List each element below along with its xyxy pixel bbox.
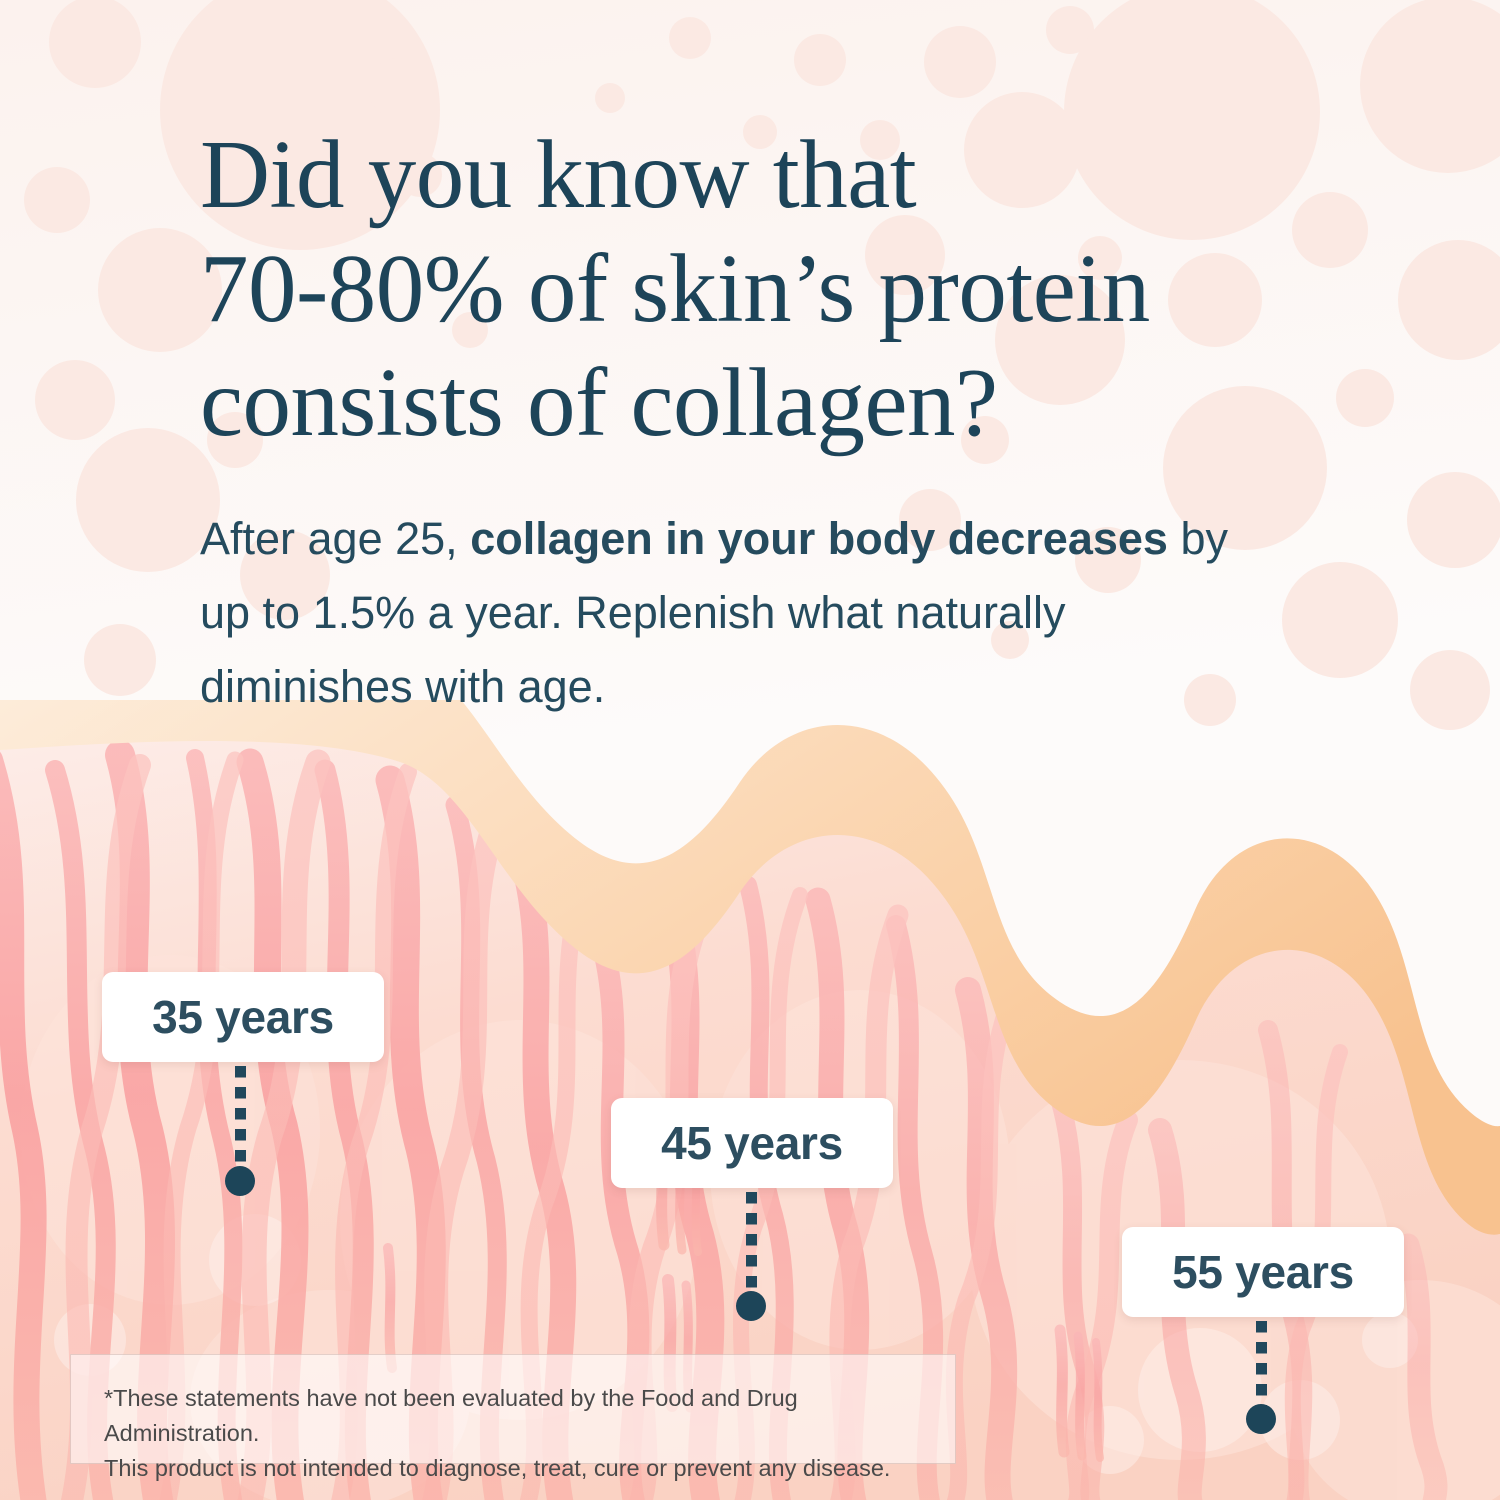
disclaimer-line-1: *These statements have not been evaluate…: [104, 1381, 955, 1451]
age-chip-label-35: 35 years: [152, 990, 334, 1044]
leader-endpoint-35: [225, 1166, 255, 1196]
leader-endpoint-55: [1246, 1404, 1276, 1434]
infographic-canvas: Did you know that 70-80% of skin’s prote…: [0, 0, 1500, 1500]
leader-line-45: [746, 1192, 757, 1296]
body-bold-1: collagen in your body decreases: [470, 513, 1168, 564]
headline-line-1: Did you know that: [200, 121, 916, 228]
leader-endpoint-45: [736, 1291, 766, 1321]
leader-line-35: [235, 1066, 246, 1171]
headline-line-2: 70-80% of skin’s protein: [200, 235, 1150, 342]
age-chip-55: 55 years: [1122, 1227, 1404, 1317]
age-chip-label-45: 45 years: [661, 1116, 843, 1170]
age-chip-45: 45 years: [611, 1098, 893, 1188]
page-title: Did you know that 70-80% of skin’s prote…: [200, 118, 1320, 460]
age-chip-label-55: 55 years: [1172, 1245, 1354, 1299]
disclaimer-line-2: This product is not intended to diagnose…: [104, 1451, 955, 1486]
age-chip-35: 35 years: [102, 972, 384, 1062]
leader-line-55: [1256, 1321, 1267, 1409]
disclaimer-box: *These statements have not been evaluate…: [70, 1354, 956, 1464]
body-copy: After age 25, collagen in your body decr…: [200, 502, 1260, 724]
headline-line-3: consists of collagen?: [200, 349, 998, 456]
text-block: Did you know that 70-80% of skin’s prote…: [200, 118, 1320, 724]
body-part-1: After age 25,: [200, 513, 470, 564]
